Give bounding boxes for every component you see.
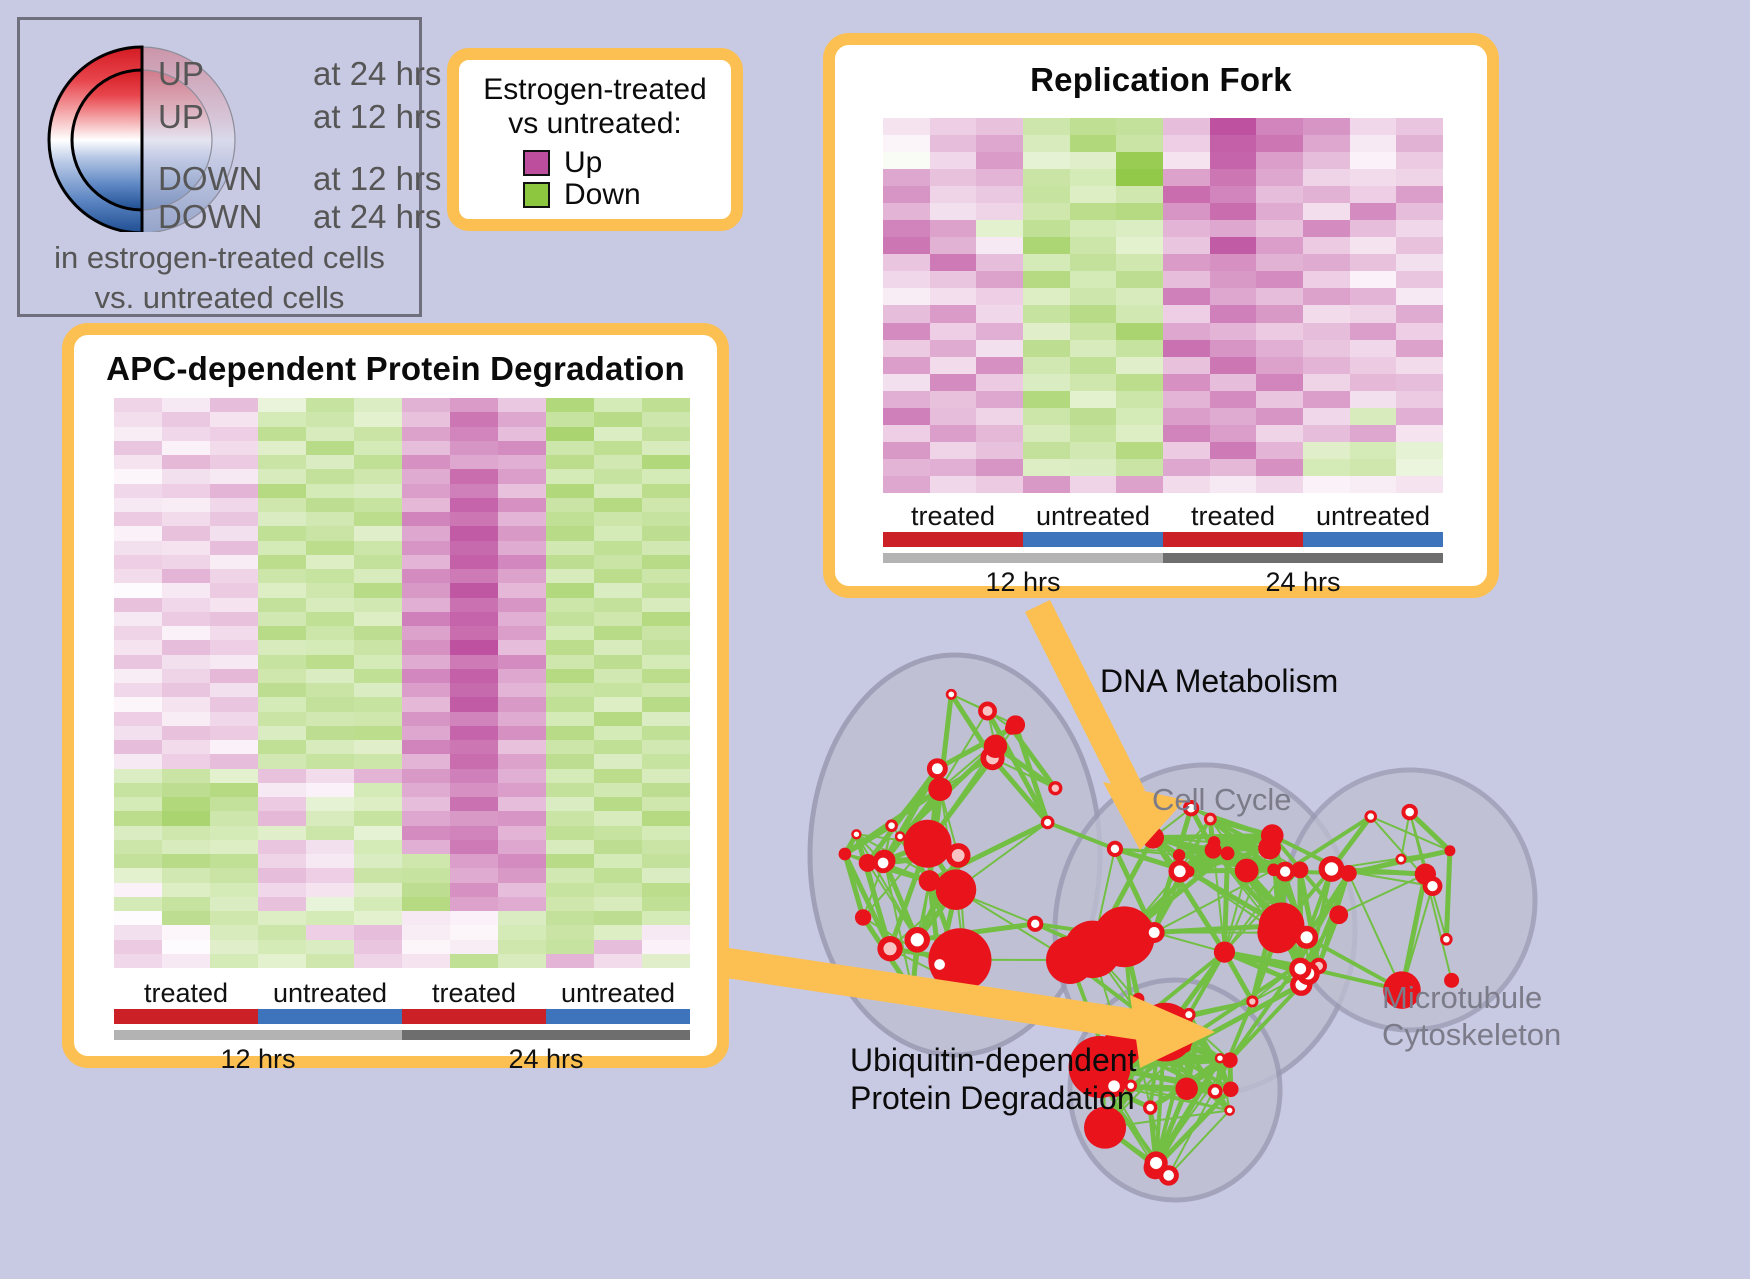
network-node[interactable] [1289,958,1311,980]
heatmap-cell [1396,237,1443,254]
heatmap-cell [402,840,450,854]
heatmap-cell [1256,288,1303,305]
heatmap-cell [1116,391,1163,408]
heatmap-cell [594,940,642,954]
heatmap-cell [930,271,977,288]
heatmap-cell [1210,220,1257,237]
network-node[interactable] [855,909,871,925]
heatmap-cell [498,484,546,498]
node-core [932,763,943,774]
heatmap-cell [883,391,930,408]
network-node[interactable] [946,843,971,868]
heatmap-cell [162,826,210,840]
heatmap-cell [1303,459,1350,476]
heatmap-cell [354,412,402,426]
network-node[interactable] [1224,1105,1235,1116]
heatmap-cell [114,427,162,441]
heatmap-cell [114,940,162,954]
network-node[interactable] [904,820,952,868]
heatmap-cell [1256,408,1303,425]
network-node[interactable] [1152,1037,1174,1059]
network-node[interactable] [1401,804,1417,820]
heatmap-cell [450,726,498,740]
heatmap-cell [1256,237,1303,254]
heatmap-cell [1116,152,1163,169]
heatmap-cell [642,640,690,654]
heatmap-cell [258,740,306,754]
node-core [1325,862,1338,875]
network-node[interactable] [1180,1042,1190,1052]
heatmap-cell [258,897,306,911]
network-node[interactable] [1144,922,1165,943]
heatmap-cell [210,840,258,854]
heatmap-cell [546,797,594,811]
heatmap-cell [258,811,306,825]
heatmap-cell [306,526,354,540]
heatmap-cell [114,797,162,811]
heatmap-cell [883,169,930,186]
heatmap-cell [1023,169,1070,186]
heatmap-cell [498,797,546,811]
network-node[interactable] [1295,926,1318,949]
network-node[interactable] [1440,933,1453,946]
heatmap-cell [1396,152,1443,169]
heatmap-cell [1350,135,1397,152]
heatmap-cell [210,398,258,412]
heatmap-cell [594,640,642,654]
heatmap-cell [306,512,354,526]
heatmap-cell [162,897,210,911]
heatmap-cell [642,484,690,498]
network-node[interactable] [919,870,940,891]
node-core [1367,813,1374,820]
heatmap-cell [114,683,162,697]
heatmap-cell [1023,476,1070,493]
network-node[interactable] [1027,916,1043,932]
heatmap-cell [1070,271,1117,288]
heatmap-cell [594,484,642,498]
network-node[interactable] [877,936,902,961]
heatmap-cell [498,640,546,654]
heatmap-cell [258,583,306,597]
heatmap-cell [306,712,354,726]
network-node[interactable] [1214,941,1235,962]
network-node[interactable] [984,735,1007,758]
heatmap-cell [594,412,642,426]
heatmap-cell [162,655,210,669]
heatmap-cell [114,583,162,597]
node-core [983,706,993,716]
heatmap-cell [1023,118,1070,135]
heatmap-cell [402,754,450,768]
heatmap-cell [1163,118,1210,135]
network-node[interactable] [1041,816,1055,830]
network-node[interactable] [1396,854,1407,865]
node-core [1175,1078,1197,1100]
group-label: untreated [1303,501,1443,532]
heatmap-cell [1350,271,1397,288]
bar-treated-24 [402,1009,546,1024]
legend-title-line2: vs untreated: [459,107,731,141]
network-node[interactable] [1246,995,1258,1007]
heatmap-cell [594,911,642,925]
heatmap-cell [306,427,354,441]
heatmap-cell [1163,237,1210,254]
heatmap-cell [1303,203,1350,220]
heatmap-cell [498,669,546,683]
heatmap-cell [930,118,977,135]
heatmap-cell [450,398,498,412]
network-node[interactable] [978,702,997,721]
heatmap-cell [1303,442,1350,459]
heatmap-cell [1163,442,1210,459]
heatmap-cell [114,669,162,683]
network-node[interactable] [1143,1100,1157,1114]
key-time: at 24 hrs [313,55,441,93]
heatmap-cell [258,726,306,740]
heatmap-cell [402,925,450,939]
heatmap-cell [450,783,498,797]
network-node[interactable] [885,819,898,832]
heatmap-cell [1256,442,1303,459]
heatmap-cell [498,512,546,526]
heatmap-cell [1396,323,1443,340]
heatmap-cell [976,305,1023,322]
heatmap-grid [114,398,690,968]
heatmap-cell [162,669,210,683]
network-node[interactable] [1175,1078,1197,1100]
network-node[interactable] [895,831,906,842]
heatmap-cell [1256,254,1303,271]
heatmap-cell [546,626,594,640]
heatmap-cell [976,408,1023,425]
heatmap-cell [210,726,258,740]
network-node[interactable] [1048,781,1062,795]
heatmap-cell [114,498,162,512]
network-node[interactable] [1267,863,1280,876]
heatmap-cell [498,740,546,754]
heatmap-cell [210,541,258,555]
heatmap-cell [114,441,162,455]
heatmap-cell [402,740,450,754]
network-node[interactable] [1132,993,1144,1005]
heatmap-cell [1256,118,1303,135]
node-core [1046,936,1094,984]
network-node[interactable] [873,853,893,873]
heatmap-cell [976,340,1023,357]
heatmap-cell [642,498,690,512]
heatmap-cell [354,868,402,882]
node-core [1180,1042,1190,1052]
network-node[interactable] [1423,876,1443,896]
heatmap-cell [306,740,354,754]
heatmap-cell [114,897,162,911]
heatmap-cell [1350,459,1397,476]
heatmap-cell [642,925,690,939]
network-node[interactable] [904,927,930,953]
heatmap-cell [450,569,498,583]
node-core [1443,936,1450,943]
heatmap-cell [306,640,354,654]
time-bar [883,553,1443,563]
heatmap-cell [1303,305,1350,322]
network-svg [770,600,1750,1279]
heatmap-cell [594,498,642,512]
heatmap-cell [546,726,594,740]
heatmap-cell [258,469,306,483]
cluster-label-cell-cycle: Cell Cycle [1152,782,1292,819]
heatmap-cell [930,442,977,459]
heatmap-cell [258,541,306,555]
heatmap-cell [354,940,402,954]
node-core [919,870,940,891]
heatmap-cell [162,569,210,583]
heatmap-cell [546,612,594,626]
network-node[interactable] [1258,837,1281,860]
heatmap-cell [498,940,546,954]
heatmap-cell [114,740,162,754]
heatmap-cell [306,583,354,597]
heatmap-cell [1350,391,1397,408]
bar-time-24 [402,1030,690,1040]
heatmap-cell [930,135,977,152]
heatmap-cell [402,555,450,569]
heatmap-cell [594,726,642,740]
key-word: UP [158,98,313,136]
heatmap-cell [594,897,642,911]
heatmap-cell [1396,169,1443,186]
heatmap-cell [1396,442,1443,459]
network-node[interactable] [1292,861,1309,878]
network-node[interactable] [1235,859,1259,883]
heatmap-cell [642,398,690,412]
node-core [1146,1104,1154,1112]
heatmap-cell [258,783,306,797]
heatmap-cell [498,555,546,569]
heatmap-cell [1303,254,1350,271]
heatmap-cell [306,484,354,498]
network-node[interactable] [1444,845,1455,856]
heatmap-cell [354,569,402,583]
heatmap-cell [498,883,546,897]
heatmap-cell [546,940,594,954]
heatmap-cell [976,169,1023,186]
network-node[interactable] [1182,1008,1195,1021]
node-core [965,986,971,992]
key-word: DOWN [158,198,313,236]
heatmap-cell [498,441,546,455]
heatmap-cell [210,484,258,498]
heatmap-cell [1116,374,1163,391]
heatmap-cell [162,726,210,740]
heatmap-cell [930,254,977,271]
heatmap-cell [1396,203,1443,220]
heatmap-cell [1163,374,1210,391]
heatmap-cell [1350,323,1397,340]
heatmap-cell [306,954,354,968]
heatmap-cell [450,754,498,768]
heatmap-cell [1210,254,1257,271]
heatmap-cell [1070,220,1117,237]
heatmap-cell [1070,288,1117,305]
heatmap-cell [210,697,258,711]
heatmap-cell [210,683,258,697]
heatmap-cell [1303,135,1350,152]
heatmap-cell [594,740,642,754]
heatmap-cell [594,655,642,669]
network-node[interactable] [946,689,957,700]
heatmap-cell [162,555,210,569]
heatmap-cell [1303,425,1350,442]
heatmap-cell [210,669,258,683]
node-core [1217,1056,1222,1061]
node-core [1142,827,1164,849]
heatmap-cell [1070,305,1117,322]
network-node[interactable] [901,981,924,1004]
network-node[interactable] [1107,841,1123,857]
network-node[interactable] [1205,842,1222,859]
network-node[interactable] [1192,1025,1204,1037]
node-core [1031,920,1039,928]
heatmap-cell [883,305,930,322]
heatmap-cell [162,427,210,441]
heatmap-cell [450,840,498,854]
cluster-label-ubiquitin-protein-degradation: Ubiquitin-dependent Protein Degradation [850,1042,1136,1118]
network-node[interactable] [927,758,948,779]
heatmap-cell [1210,357,1257,374]
heatmap-cell [546,398,594,412]
network-node[interactable] [1168,860,1191,883]
heatmap-cell [976,323,1023,340]
heatmap-cell [1210,391,1257,408]
network-node[interactable] [962,983,974,995]
heatmap-cell [546,583,594,597]
heatmap-cell [498,526,546,540]
heatmap-cell [1303,186,1350,203]
heatmap-cell [1163,340,1210,357]
heatmap-cell [306,883,354,897]
heatmap-cell [258,754,306,768]
network-node[interactable] [932,779,950,797]
group-label: untreated [258,978,402,1009]
heatmap-cell [402,826,450,840]
network-node[interactable] [1364,810,1377,823]
heatmap-cell [162,811,210,825]
heatmap-cell [1256,135,1303,152]
heatmap-cell [594,854,642,868]
network-node[interactable] [851,829,861,839]
heatmap-cell [1116,271,1163,288]
node-core [897,834,902,839]
heatmap-cell [450,441,498,455]
network-node[interactable] [1223,1081,1239,1097]
heatmap-cell [1396,288,1443,305]
heatmap-cell [1396,254,1443,271]
heatmap-cell [162,754,210,768]
network-node[interactable] [1215,1053,1225,1063]
heatmap-cell [258,712,306,726]
heatmap-cell [162,469,210,483]
heatmap-cell [402,427,450,441]
heatmap-cell [258,868,306,882]
network-node[interactable] [1006,715,1025,734]
heatmap-cell [546,455,594,469]
heatmap-cell [306,455,354,469]
heatmap-cell [114,826,162,840]
network-node[interactable] [936,869,977,910]
node-core [855,909,871,925]
network-node[interactable] [1142,827,1164,849]
node-core [839,848,852,861]
heatmap-cell [498,697,546,711]
heatmap-cell [162,541,210,555]
heatmap-cell [450,769,498,783]
heatmap-cell [402,640,450,654]
heatmap-cell [1210,186,1257,203]
heatmap-cell [546,484,594,498]
heatmap-cell [498,754,546,768]
heatmap-cell [930,425,977,442]
heatmap-cell [162,398,210,412]
heatmap-cell [210,911,258,925]
heatmap-cell [306,683,354,697]
heatmap-cell [162,455,210,469]
heatmap-cell [1116,408,1163,425]
network-node[interactable] [1173,849,1185,861]
network-node[interactable] [1046,936,1094,984]
heatmap-cell [930,357,977,374]
heatmap-cell [1023,323,1070,340]
heatmap-cell [450,940,498,954]
network-node[interactable] [1208,1084,1223,1099]
heatmap-cell [162,740,210,754]
network-node[interactable] [1136,1014,1161,1039]
key-row-up12: UP at 12 hrs [158,98,441,136]
heatmap-cell [930,408,977,425]
group-labels: treated untreated treated untreated [883,501,1443,532]
heatmap-cell [354,769,402,783]
replication-fork-panel: Replication Fork treated untreated treat… [823,33,1499,598]
heatmap-cell [883,186,930,203]
network-node[interactable] [1329,905,1348,924]
heatmap-cell [1256,323,1303,340]
heatmap-cell [402,669,450,683]
heatmap-cell [1210,323,1257,340]
node-core [1398,856,1404,862]
heatmap-cell [306,669,354,683]
heatmap-cell [402,954,450,968]
heatmap-cell [354,427,402,441]
heatmap-cell [354,526,402,540]
heatmap-cell [498,925,546,939]
heatmap-cell [642,412,690,426]
network-node[interactable] [1319,856,1345,882]
heatmap-cell [546,555,594,569]
heatmap-cell [450,697,498,711]
network-node[interactable] [929,954,949,974]
network-node[interactable] [1221,846,1235,860]
heatmap-cell [546,868,594,882]
network-node[interactable] [839,848,852,861]
heatmap-cell [976,374,1023,391]
heatmap-cell [354,669,402,683]
heatmap-cell [114,412,162,426]
network-node[interactable] [1144,1151,1167,1174]
heatmap-cell [210,854,258,868]
heatmap-cell [354,840,402,854]
legend-item-up: Up [523,148,731,178]
heatmap-cell [354,469,402,483]
